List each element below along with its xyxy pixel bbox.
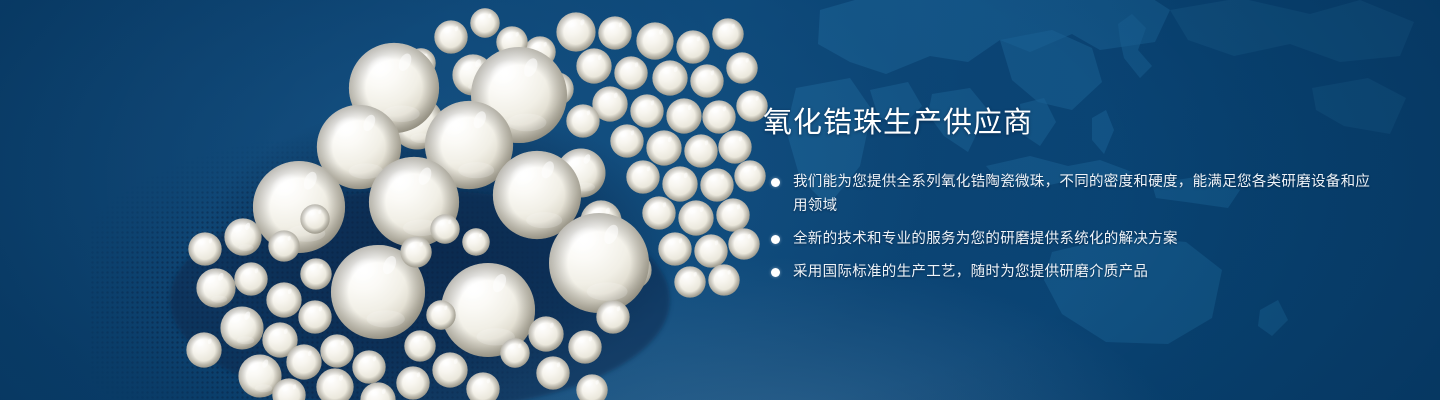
bullet-dot-icon	[771, 268, 780, 277]
list-item: 采用国际标准的生产工艺，随时为您提供研磨介质产品	[763, 260, 1383, 284]
zirconia-beads-photo	[0, 0, 780, 400]
list-item: 全新的技术和专业的服务为您的研磨提供系统化的解决方案	[763, 227, 1383, 251]
bullet-dot-icon	[771, 235, 780, 244]
banner-content: 氧化锆珠生产供应商 我们能为您提供全系列氧化锆陶瓷微珠，不同的密度和硬度，能满足…	[763, 104, 1383, 284]
list-item: 我们能为您提供全系列氧化锆陶瓷微珠，不同的密度和硬度，能满足您各类研磨设备和应用…	[763, 170, 1383, 218]
hero-banner: 氧化锆珠生产供应商 我们能为您提供全系列氧化锆陶瓷微珠，不同的密度和硬度，能满足…	[0, 0, 1440, 400]
page-title: 氧化锆珠生产供应商	[763, 104, 1383, 142]
list-item-label: 采用国际标准的生产工艺，随时为您提供研磨介质产品	[793, 260, 1383, 284]
list-item-label: 我们能为您提供全系列氧化锆陶瓷微珠，不同的密度和硬度，能满足您各类研磨设备和应用…	[793, 170, 1383, 218]
list-item-label: 全新的技术和专业的服务为您的研磨提供系统化的解决方案	[793, 227, 1383, 251]
bullet-dot-icon	[771, 178, 780, 187]
feature-list: 我们能为您提供全系列氧化锆陶瓷微珠，不同的密度和硬度，能满足您各类研磨设备和应用…	[763, 170, 1383, 284]
